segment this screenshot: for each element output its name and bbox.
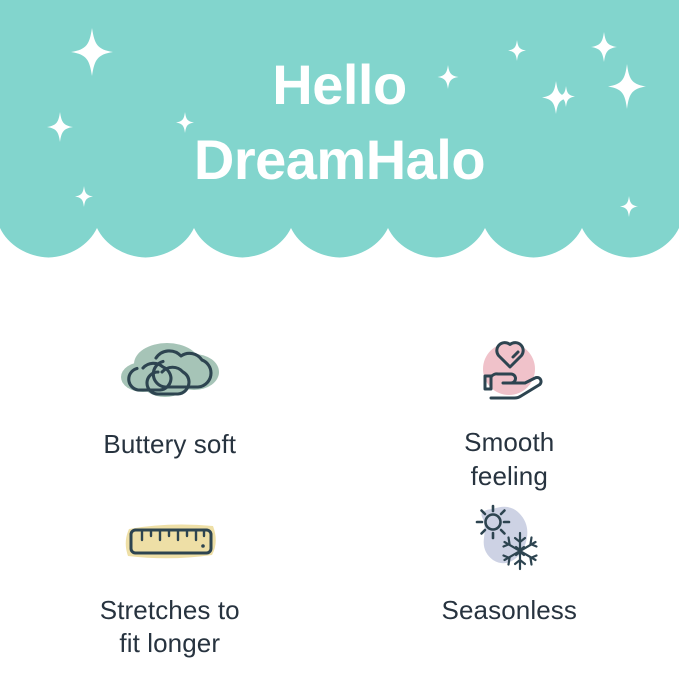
sparkle-icon xyxy=(75,186,93,207)
feature-item-smooth-feeling: Smooth feeling xyxy=(340,262,679,494)
feature-label: Buttery soft xyxy=(103,428,236,462)
sparkle-icon xyxy=(508,40,526,61)
sparkle-icon xyxy=(71,28,113,76)
sparkle-icon xyxy=(176,112,194,133)
feature-grid: Buttery soft Smooth feeling xyxy=(0,262,679,676)
feature-label: Smooth feeling xyxy=(464,426,554,494)
sparkle-icon xyxy=(557,86,575,107)
hero-banner: Hello DreamHalo xyxy=(0,0,679,262)
sparkle-icon xyxy=(620,196,638,217)
hand-heart-icon xyxy=(454,334,564,404)
feature-item-buttery-soft: Buttery soft xyxy=(0,262,340,494)
feature-item-stretches-to-fit-longer: Stretches to fit longer xyxy=(0,494,340,676)
sparkle-icon xyxy=(591,32,617,62)
sparkle-icon xyxy=(47,112,73,142)
cloud-icon xyxy=(110,334,230,410)
sparkle-icon xyxy=(438,65,459,89)
sparkle-decorations xyxy=(0,0,679,262)
feature-label: Stretches to fit longer xyxy=(100,594,240,662)
sun-snowflake-icon xyxy=(454,502,564,572)
ruler-icon xyxy=(115,506,225,576)
sparkle-icon xyxy=(608,64,646,109)
feature-label: Seasonless xyxy=(442,594,577,628)
feature-item-seasonless: Seasonless xyxy=(340,494,679,676)
